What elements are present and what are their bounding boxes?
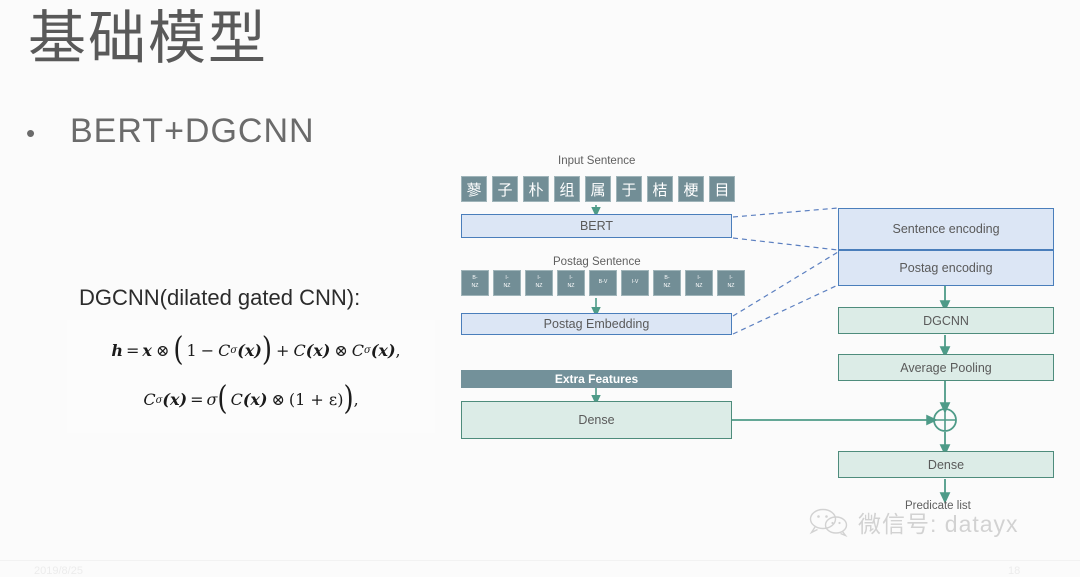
formula2-equals: =	[190, 385, 203, 415]
postag-token-bottom: NZ	[568, 283, 575, 291]
footer-page-number: 18	[1008, 565, 1020, 577]
postag-token: I- NZ	[717, 270, 745, 296]
dense-left-box: Dense	[461, 401, 732, 439]
postag-token: B- NZ	[653, 270, 681, 296]
wechat-icon	[808, 507, 850, 537]
watermark: 微信号: datayx	[808, 505, 1019, 539]
postag-token-bottom: NZ	[472, 283, 479, 291]
formula-c-sigma-2: C	[352, 336, 364, 366]
formula-lhs: h	[111, 336, 123, 366]
formula2-comma: ,	[354, 385, 359, 415]
postag-token: B- NZ	[461, 270, 489, 296]
input-token: 目	[709, 176, 735, 202]
label-postag-sentence: Postag Sentence	[553, 256, 641, 268]
watermark-text: 微信号: datayx	[858, 505, 1019, 539]
formula2-otimes: ⊗	[272, 385, 285, 415]
input-token: 于	[616, 176, 642, 202]
input-token: 蓼	[461, 176, 487, 202]
input-token: 梗	[678, 176, 704, 202]
postag-token-bottom: NZ	[504, 283, 511, 291]
postag-token-bottom: NZ	[536, 283, 543, 291]
formula-arg-3: (x)	[371, 336, 396, 366]
formula-sigma-sub-1: σ	[230, 341, 237, 360]
postag-token: I- NZ	[525, 270, 553, 296]
formula2-sigma: σ	[206, 385, 217, 415]
dense-right-box: Dense	[838, 451, 1054, 478]
formula2-c: C	[143, 385, 155, 415]
formula-x: x	[142, 336, 152, 366]
label-input-sentence: Input Sentence	[558, 155, 635, 167]
postag-token-top: B-	[472, 275, 477, 283]
formula-equals: =	[126, 336, 139, 366]
formula2-paren-open: (	[217, 369, 227, 431]
postag-token-top: I-V	[632, 279, 639, 287]
formula-arg-2: (x)	[306, 336, 331, 366]
formula-c-plain-1: C	[293, 336, 305, 366]
input-token: 朴	[523, 176, 549, 202]
postag-token-top: B-V	[599, 279, 608, 287]
formula-line-2: C σ (x) = σ ( C (x) ⊗ (1 + ε) ) ,	[71, 375, 431, 424]
dgcnn-caption: DGCNN(dilated gated CNN):	[79, 285, 360, 311]
formula-paren-close-1: )	[262, 320, 272, 382]
formula-comma-1: ,	[396, 336, 401, 366]
postag-token-top: I-	[729, 275, 732, 283]
footer-date: 2019/8/25	[34, 565, 83, 577]
sentence-encoding-box: Sentence encoding	[838, 208, 1054, 250]
postag-embedding-box: Postag Embedding	[461, 313, 732, 335]
postag-token: I- NZ	[685, 270, 713, 296]
formula-minus: −	[201, 336, 214, 366]
dgcnn-box: DGCNN	[838, 307, 1054, 334]
formula-one: 1	[187, 336, 197, 366]
formula-block: h = x ⊗ ( 1 − C σ (x) ) + C (x) ⊗ C σ (x…	[67, 320, 435, 433]
postag-token-top: B-	[664, 275, 669, 283]
postag-token-bottom: NZ	[728, 283, 735, 291]
input-token: 属	[585, 176, 611, 202]
average-pooling-box: Average Pooling	[838, 354, 1054, 381]
formula-paren-open-1: (	[173, 320, 183, 382]
formula-sigma-sub-2: σ	[364, 341, 371, 360]
formula-otimes-2: ⊗	[334, 336, 347, 366]
input-token-row: 蓼 子 朴 组 属 于 桔 梗 目	[461, 176, 740, 202]
bert-box: BERT	[461, 214, 732, 238]
formula2-arg: (x)	[243, 385, 268, 415]
bullet-label: BERT+DGCNN	[70, 112, 315, 151]
postag-token-bottom: NZ	[696, 283, 703, 291]
page-title: 基础模型	[28, 6, 268, 73]
postag-token: B-V	[589, 270, 617, 296]
bullet-marker: •	[26, 120, 70, 146]
input-token: 桔	[647, 176, 673, 202]
postag-encoding-box: Postag encoding	[838, 250, 1054, 286]
bullet-item: • BERT+DGCNN	[26, 112, 315, 151]
postag-token: I- NZ	[557, 270, 585, 296]
postag-token: I-V	[621, 270, 649, 296]
input-token: 子	[492, 176, 518, 202]
postag-token-top: I-	[569, 275, 572, 283]
input-token: 组	[554, 176, 580, 202]
formula-plus: +	[276, 336, 289, 366]
formula2-c-plain: C	[231, 385, 243, 415]
postag-token-top: I-	[505, 275, 508, 283]
formula-otimes-1: ⊗	[156, 336, 169, 366]
footer-divider	[0, 560, 1080, 561]
postag-token: I- NZ	[493, 270, 521, 296]
formula-line-1: h = x ⊗ ( 1 − C σ (x) ) + C (x) ⊗ C σ (x…	[71, 326, 431, 375]
extra-features-box: Extra Features	[461, 370, 732, 388]
postag-token-bottom: NZ	[664, 283, 671, 291]
postag-token-row: B- NZ I- NZ I- NZ I- NZ B-V I-V B- NZ I-	[461, 270, 749, 296]
formula2-rhs: (1 + ε)	[289, 385, 344, 415]
formula2-sigma-sub: σ	[156, 391, 163, 410]
formula2-lhs-arg: (x)	[162, 385, 187, 415]
formula2-paren-close: )	[343, 369, 353, 431]
postag-token-top: I-	[697, 275, 700, 283]
formula-arg-1: (x)	[237, 336, 262, 366]
postag-token-top: I-	[537, 275, 540, 283]
formula-c-sigma-1: C	[218, 336, 230, 366]
